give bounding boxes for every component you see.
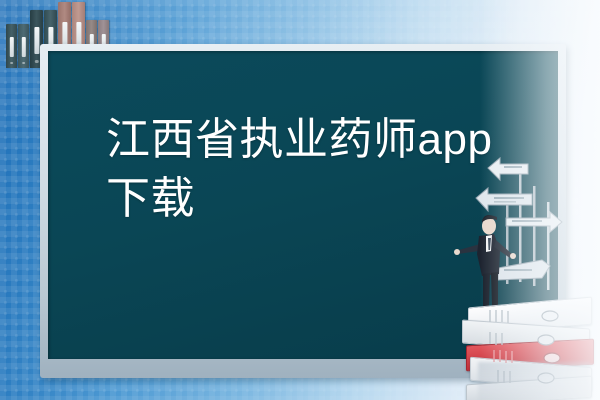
- signpost-arrow-lower-right: [498, 260, 550, 280]
- signpost-arrow-up-left: [488, 158, 528, 180]
- binder-label: [34, 27, 39, 54]
- businessman-left-leg: [483, 273, 490, 306]
- binder-label: [21, 37, 25, 57]
- signpost-arrow-mid-left: [476, 188, 532, 211]
- businessman-left-hand: [454, 249, 460, 255]
- binder-label: [9, 37, 13, 57]
- businessman-illustration: [446, 150, 600, 400]
- signpost-pole-3: [547, 202, 550, 290]
- binder-1: [6, 24, 17, 68]
- businessman-right-hand: [510, 253, 516, 259]
- stack-reflection: [478, 362, 590, 400]
- binder-ring: [22, 62, 26, 64]
- businessman-right-leg: [491, 272, 498, 306]
- businessman-left-arm: [458, 244, 480, 254]
- binder-ring: [10, 62, 14, 64]
- banner-canvas: 江西省执业药师app下载: [0, 0, 600, 400]
- binder-ring: [34, 60, 38, 63]
- binder-2: [18, 24, 29, 68]
